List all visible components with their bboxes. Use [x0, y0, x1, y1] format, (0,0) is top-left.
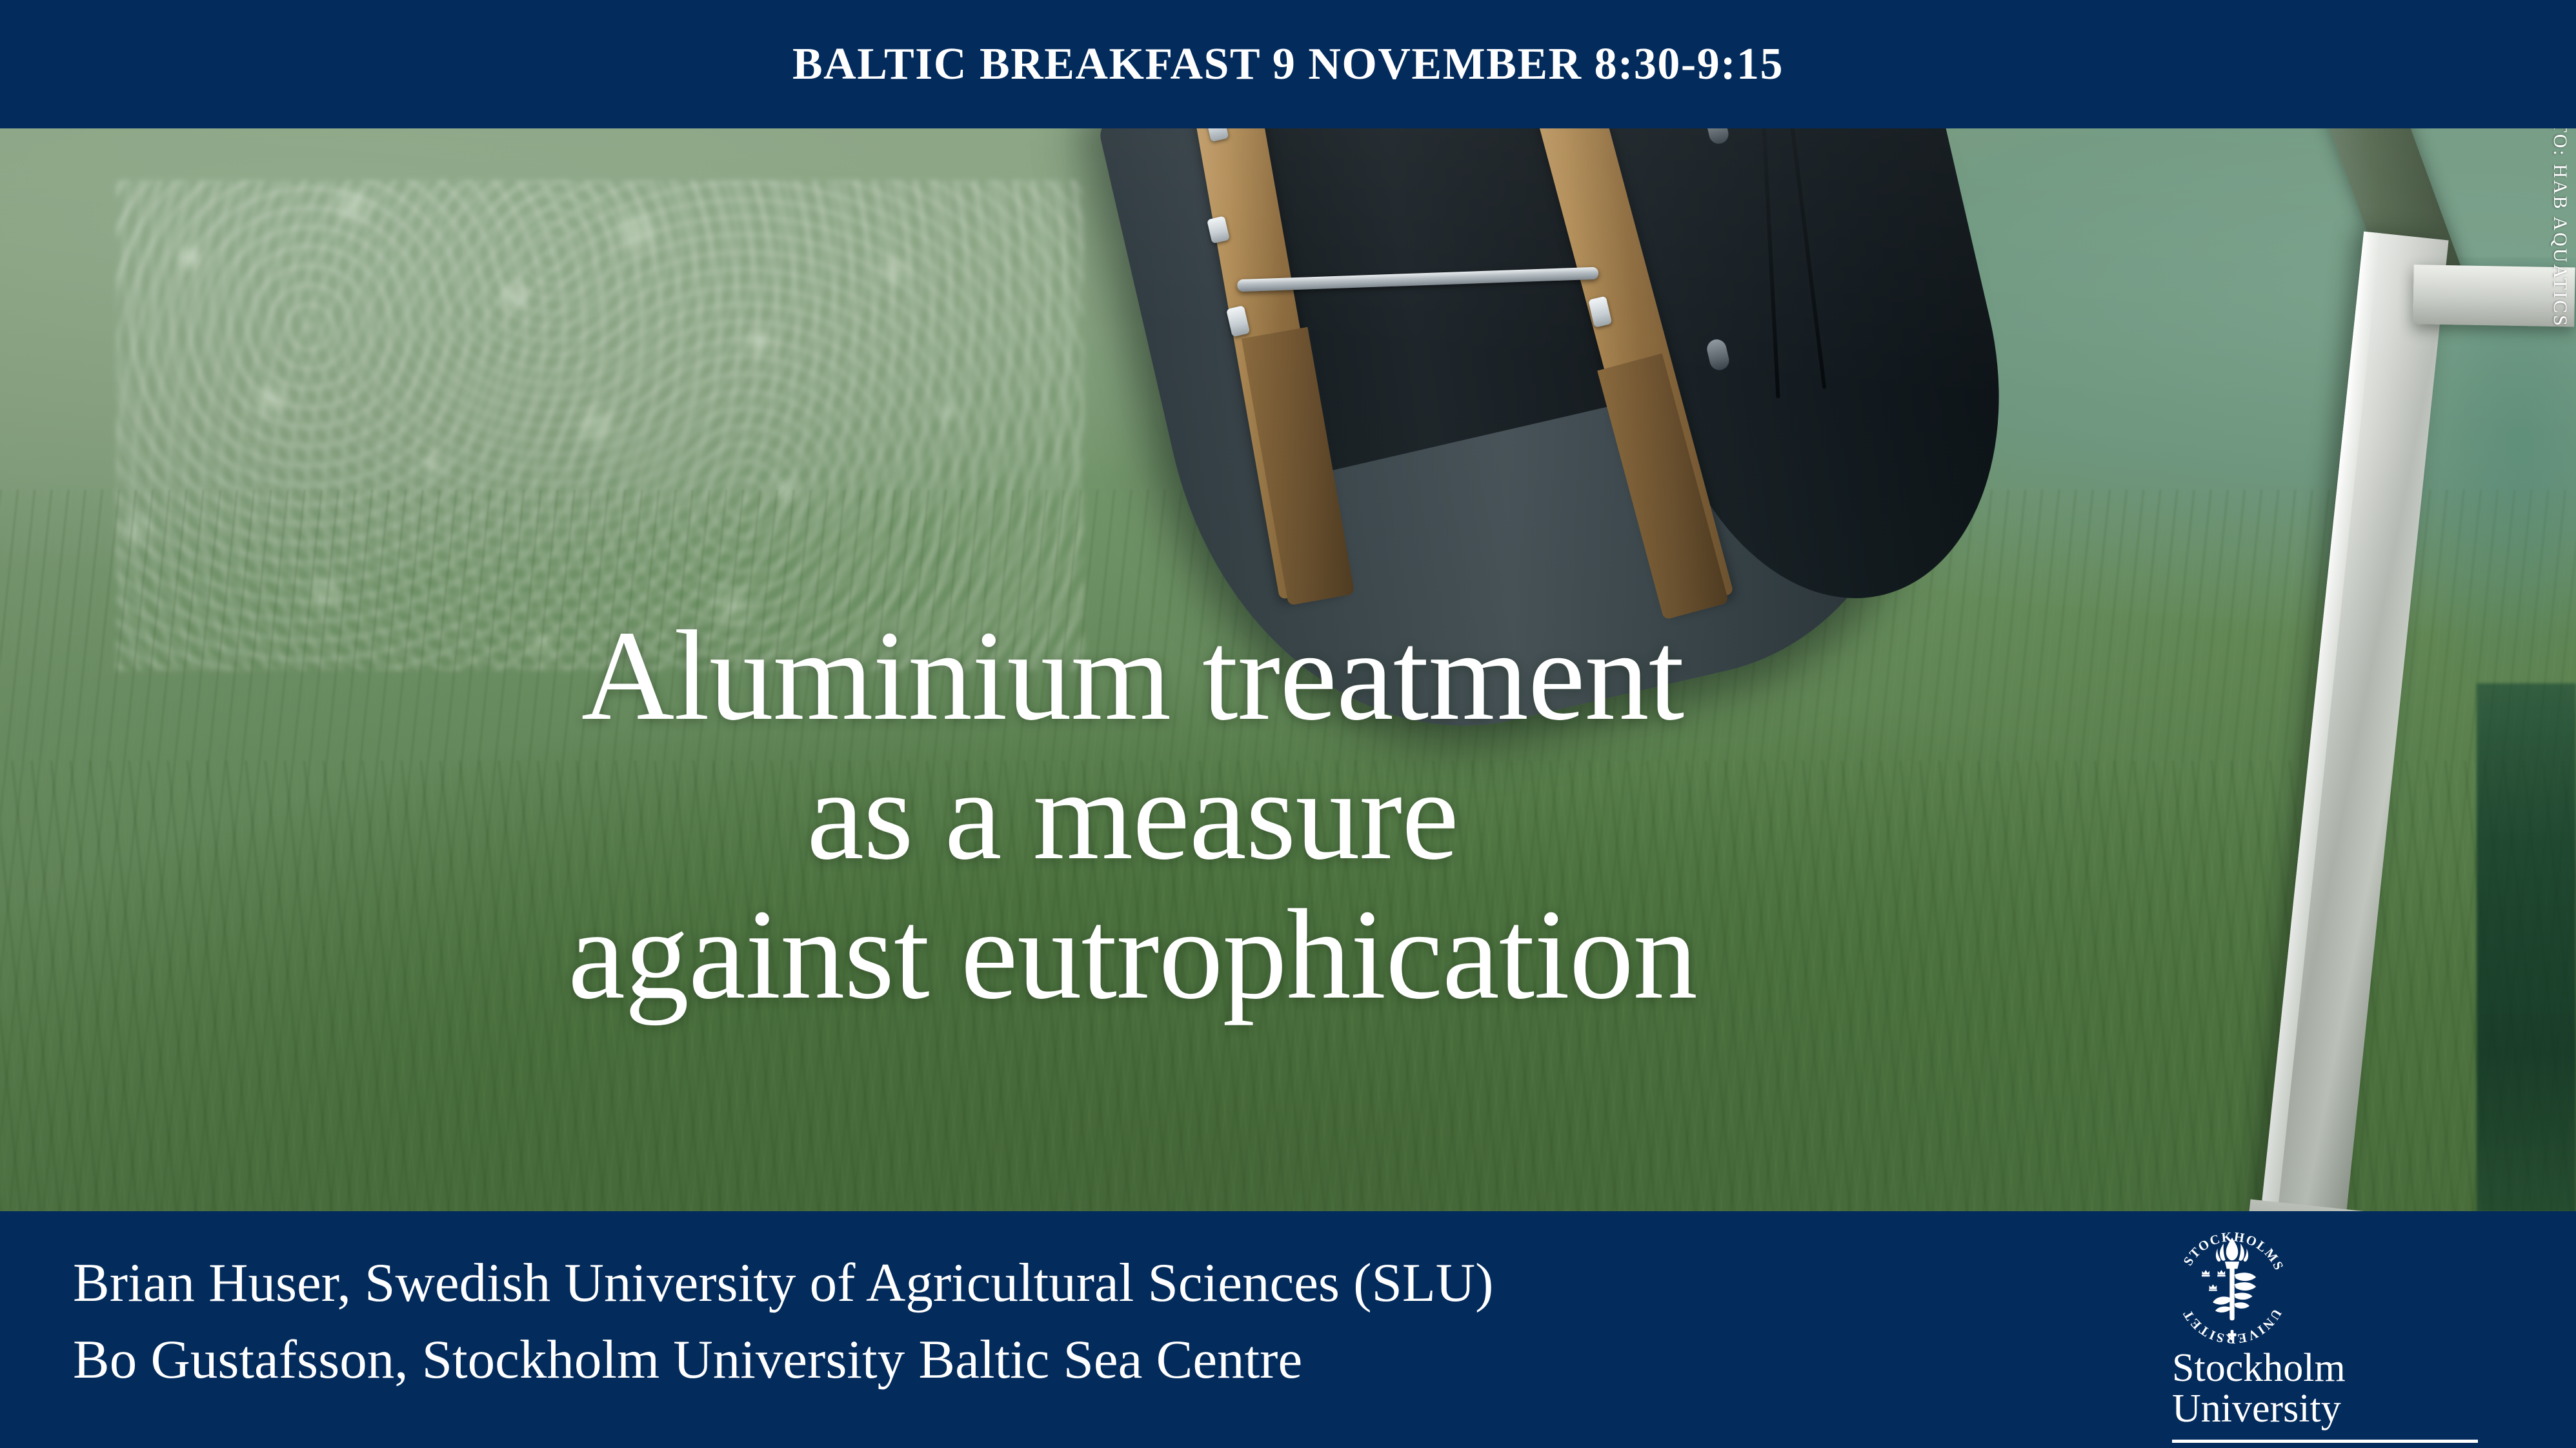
speaker-list: Brian Huser, Swedish University of Agric…: [73, 1245, 1996, 1398]
title-line-3: against eutrophication: [26, 885, 2239, 1025]
university-name: Stockholm University: [2172, 1348, 2505, 1429]
logo-divider: [2172, 1440, 2478, 1443]
stockholm-university-logo: STOCKHOLMS UNIVERSITET: [2169, 1228, 2505, 1448]
speaker-line-1: Brian Huser, Swedish University of Agric…: [73, 1245, 1996, 1322]
university-name-line-2: University: [2172, 1389, 2505, 1429]
presentation-title: Aluminium treatment as a measure against…: [0, 607, 2265, 1025]
speaker-line-2: Bo Gustafsson, Stockholm University Balt…: [73, 1322, 1996, 1398]
title-line-1: Aluminium treatment: [26, 607, 2239, 746]
event-title: BALTIC BREAKFAST 9 NOVEMBER 8:30-9:15: [792, 42, 1784, 87]
university-seal-icon: STOCKHOLMS UNIVERSITET: [2172, 1228, 2292, 1348]
footer-bar: Brian Huser, Swedish University of Agric…: [0, 1211, 2576, 1448]
event-banner: BALTIC BREAKFAST 9 NOVEMBER 8:30-9:15: [0, 0, 2576, 1448]
university-name-line-1: Stockholm: [2172, 1348, 2505, 1389]
title-line-2: as a measure: [26, 746, 2239, 885]
header-bar: BALTIC BREAKFAST 9 NOVEMBER 8:30-9:15: [0, 0, 2576, 128]
